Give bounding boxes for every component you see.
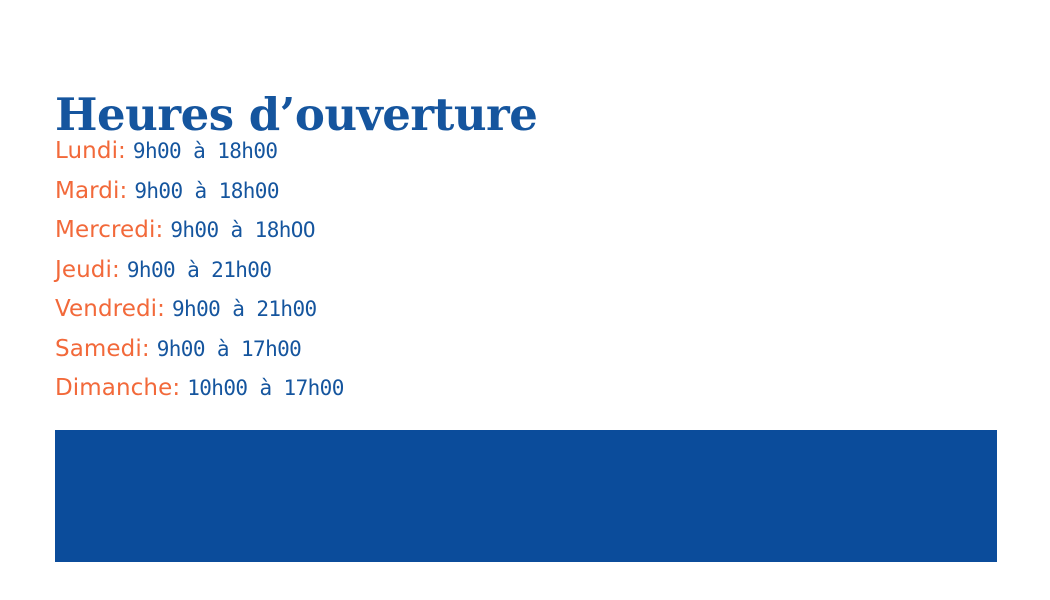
day-label: Mercredi: [55, 217, 163, 243]
time-value: 10h00 à 17h00 [187, 376, 344, 400]
list-item: Jeudi:9h00 à 21h00 [55, 251, 755, 291]
day-label: Lundi: [55, 138, 126, 164]
time-value: 9h00 à 21h00 [127, 258, 272, 282]
day-label: Dimanche: [55, 375, 180, 401]
opening-hours-list: Lundi:9h00 à 18h00 Mardi:9h00 à 18h00 Me… [55, 132, 755, 409]
time-value: 9h00 à 17h00 [157, 337, 302, 361]
slide-canvas: Heures d’ouverture Lundi:9h00 à 18h00 Ma… [0, 0, 1050, 600]
day-label: Vendredi: [55, 296, 165, 322]
time-value: 9h00 à 21h00 [172, 297, 317, 321]
bottom-banner [55, 430, 997, 562]
time-value: 9h00 à 18hOO [170, 218, 315, 242]
list-item: Vendredi:9h00 à 21h00 [55, 290, 755, 330]
list-item: Dimanche:10h00 à 17h00 [55, 369, 755, 409]
day-label: Mardi: [55, 178, 127, 204]
time-value: 9h00 à 18h00 [133, 139, 278, 163]
list-item: Mardi:9h00 à 18h00 [55, 172, 755, 212]
list-item: Mercredi:9h00 à 18hOO [55, 211, 755, 251]
time-value: 9h00 à 18h00 [134, 179, 279, 203]
day-label: Samedi: [55, 336, 150, 362]
list-item: Lundi:9h00 à 18h00 [55, 132, 755, 172]
list-item: Samedi:9h00 à 17h00 [55, 330, 755, 370]
day-label: Jeudi: [55, 257, 120, 283]
